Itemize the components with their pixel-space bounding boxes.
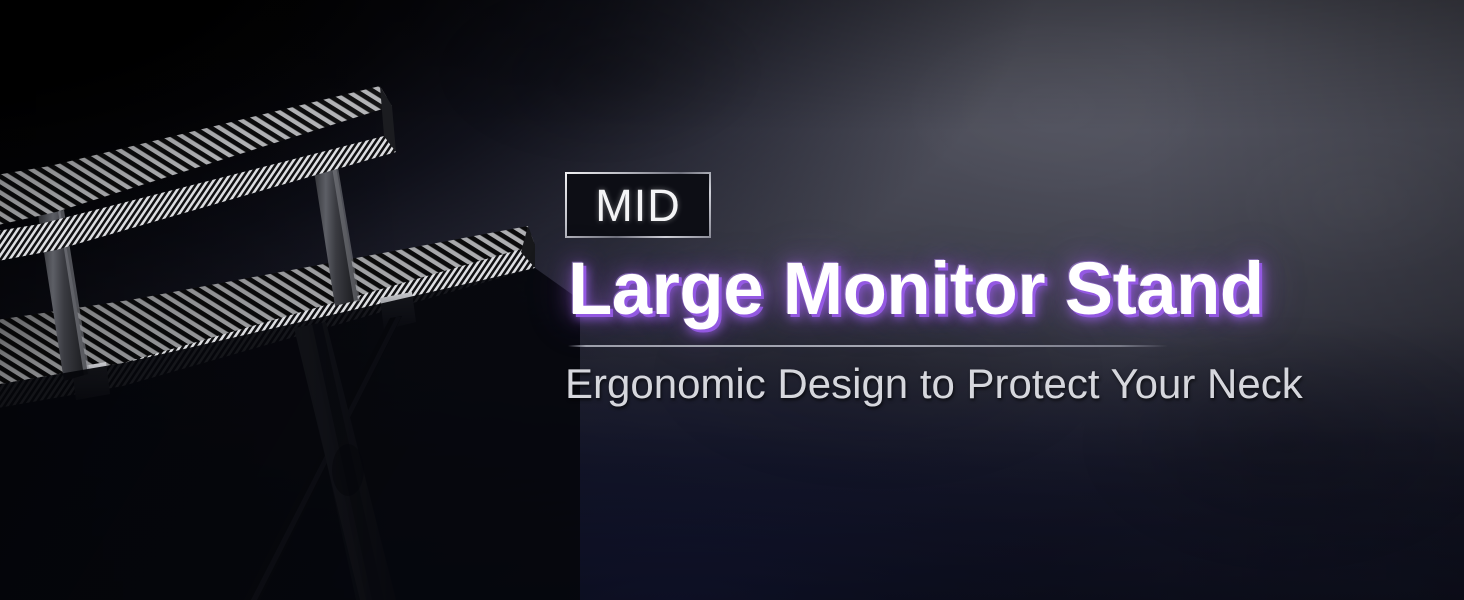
title-divider [568, 345, 1168, 347]
mid-badge-label: MID [595, 183, 681, 228]
product-hero-banner: MID Large Monitor Stand Ergonomic Design… [0, 0, 1464, 600]
mid-badge: MID [565, 172, 711, 238]
monitor-stand-product-image [0, 0, 580, 600]
page-subtitle: Ergonomic Design to Protect Your Neck [565, 363, 1303, 405]
headline-copy-block: MID Large Monitor Stand Ergonomic Design… [565, 0, 1445, 600]
page-title: Large Monitor Stand [568, 252, 1264, 326]
